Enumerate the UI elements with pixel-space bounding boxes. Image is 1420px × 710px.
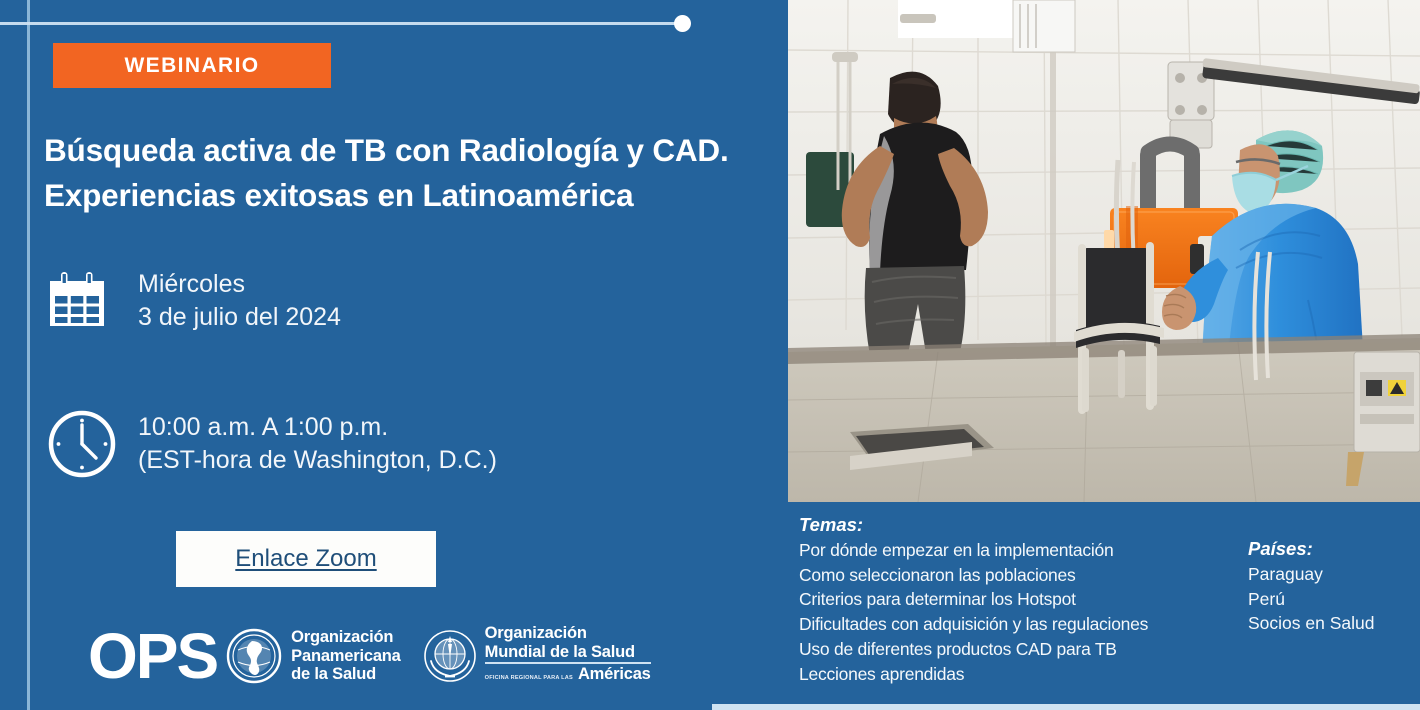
paho-who-logo: OPS Organización Panamericana de la Salu… [88, 624, 651, 688]
who-lockup: Organización Mundial de la Salud OFICINA… [422, 624, 651, 688]
bottom-accent-strip [712, 704, 1420, 710]
paho-emblem-icon [226, 628, 282, 684]
zoom-link-label[interactable]: Enlace Zoom [235, 545, 376, 573]
paho-line-1: Organización [291, 628, 401, 647]
webinar-badge: WEBINARIO [53, 43, 331, 88]
list-item: Criterios para determinar los Hotspot [799, 587, 1219, 612]
time-line-1: 10:00 a.m. A 1:00 p.m. [138, 411, 497, 444]
list-item: Por dónde empezar en la implementación [799, 538, 1219, 563]
who-divider [485, 662, 651, 664]
who-wordmark: Organización Mundial de la Salud OFICINA… [485, 624, 651, 688]
who-subtitle: OFICINA REGIONAL PARA LAS Américas [485, 665, 651, 688]
calendar-icon [46, 270, 138, 332]
list-item: Perú [1248, 587, 1418, 612]
countries-heading: Países: [1248, 536, 1418, 561]
date-text: Miércoles 3 de julio del 2024 [138, 268, 341, 334]
time-line-2: (EST-hora de Washington, D.C.) [138, 444, 497, 477]
paho-wordmark: Organización Panamericana de la Salud [291, 628, 401, 684]
topics-section: Temas: Por dónde empezar en la implement… [799, 512, 1219, 686]
zoom-link-button[interactable]: Enlace Zoom [176, 531, 436, 587]
who-line-2: Mundial de la Salud [485, 643, 651, 662]
clock-icon [46, 408, 138, 480]
who-emblem-icon [422, 628, 478, 684]
list-item: Uso de diferentes productos CAD para TB [799, 637, 1219, 662]
date-line-2: 3 de julio del 2024 [138, 301, 341, 334]
date-line-1: Miércoles [138, 268, 341, 301]
topics-heading: Temas: [799, 512, 1219, 537]
time-text: 10:00 a.m. A 1:00 p.m. (EST-hora de Wash… [138, 411, 497, 477]
list-item: Paraguay [1248, 562, 1418, 587]
webinar-poster: WEBINARIO Búsqueda activa de TB con Radi… [0, 0, 1420, 710]
topics-list: Por dónde empezar en la implementación C… [799, 538, 1219, 686]
left-content-column: WEBINARIO Búsqueda activa de TB con Radi… [0, 0, 788, 710]
webinar-badge-label: WEBINARIO [124, 54, 259, 78]
title-line-2: Experiencias exitosas en Latinoamérica [44, 173, 774, 218]
who-region-large: Américas [578, 665, 651, 684]
paho-line-2: Panamericana [291, 647, 401, 666]
time-row: 10:00 a.m. A 1:00 p.m. (EST-hora de Wash… [46, 408, 497, 480]
date-row: Miércoles 3 de julio del 2024 [46, 268, 341, 334]
who-line-1: Organización [485, 624, 651, 643]
paho-line-3: de la Salud [291, 665, 401, 684]
who-region-small: OFICINA REGIONAL PARA LAS [485, 669, 573, 688]
page-title: Búsqueda activa de TB con Radiología y C… [44, 128, 774, 218]
countries-section: Países: Paraguay Perú Socios en Salud [1248, 536, 1418, 636]
list-item: Lecciones aprendidas [799, 662, 1219, 687]
ops-acronym: OPS [88, 624, 217, 688]
title-line-1: Búsqueda activa de TB con Radiología y C… [44, 132, 729, 168]
xray-room-photo [788, 0, 1420, 502]
list-item: Como seleccionaron las poblaciones [799, 563, 1219, 588]
list-item: Dificultades con adquisición y las regul… [799, 612, 1219, 637]
countries-list: Paraguay Perú Socios en Salud [1248, 562, 1418, 636]
list-item: Socios en Salud [1248, 611, 1418, 636]
